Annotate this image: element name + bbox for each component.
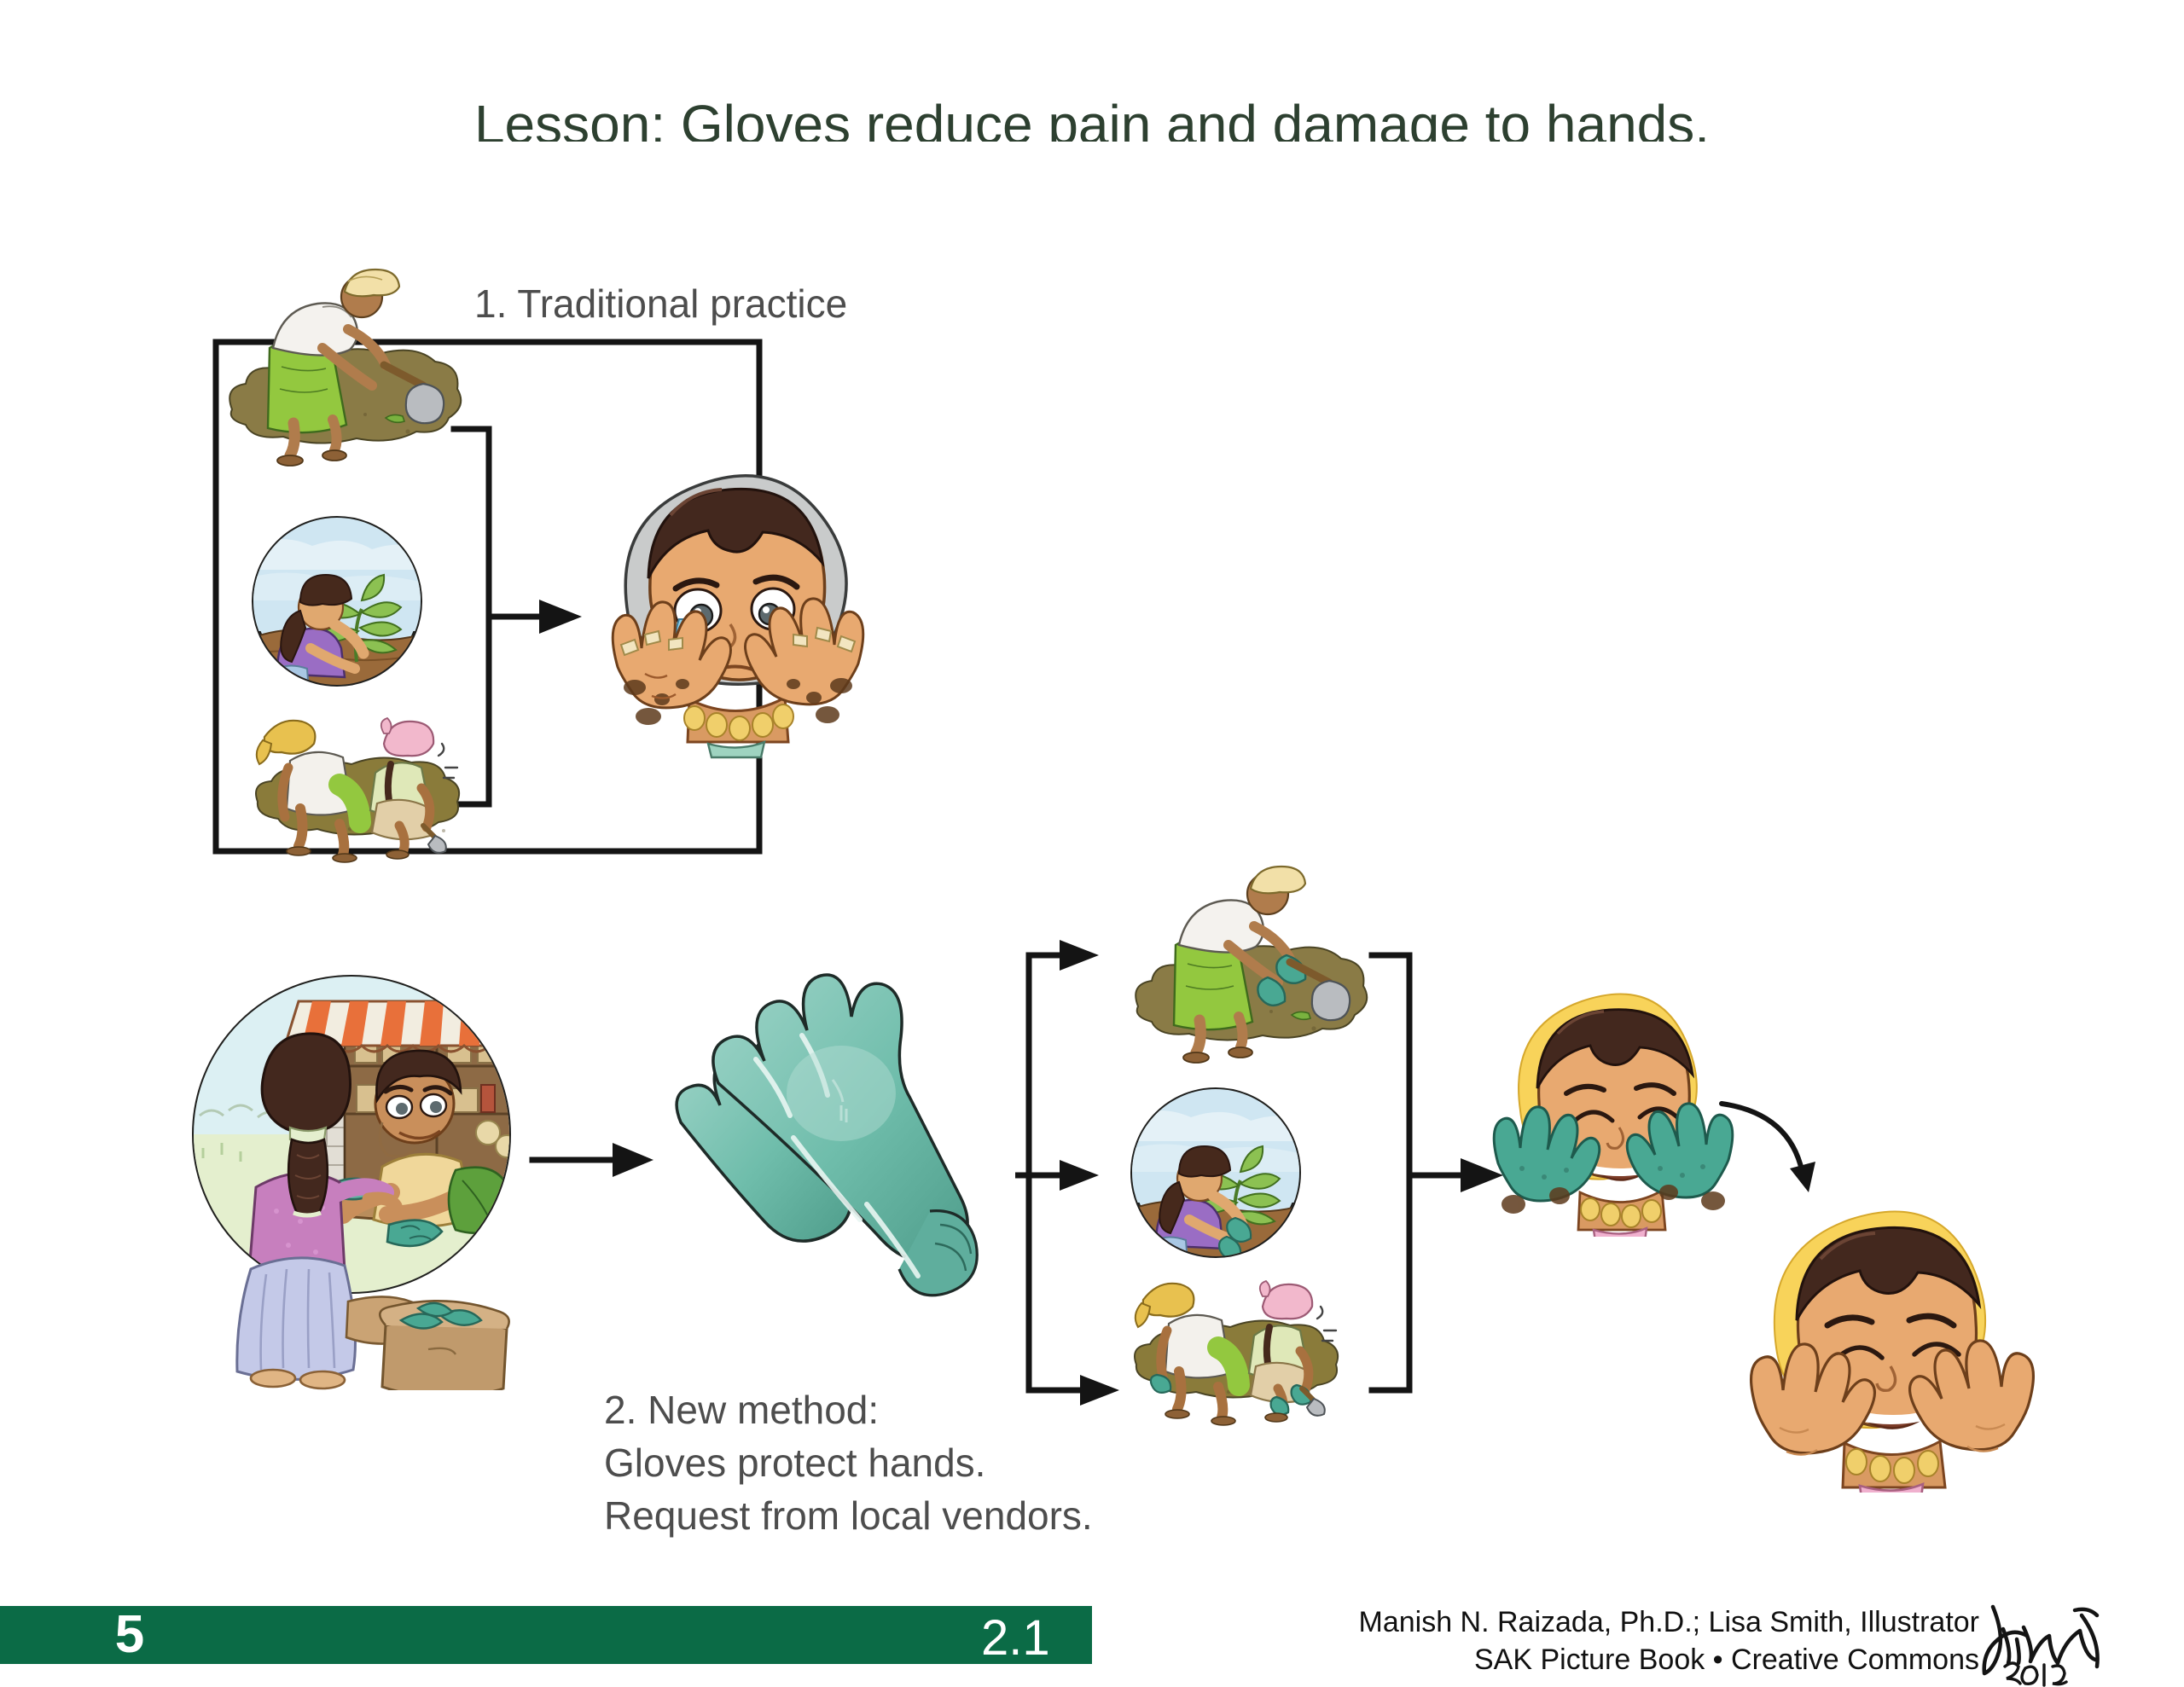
illustrator-signature: 2015	[1979, 1593, 2150, 1687]
outcome-happy-girl-clean-hands	[1732, 1194, 2056, 1493]
scene-pair-of-gloves	[674, 947, 1032, 1330]
scene-vendor-shop	[181, 964, 548, 1390]
label-traditional-practice: 1. Traditional practice	[474, 277, 847, 330]
page-number: 5	[96, 1607, 164, 1663]
label-new-method-line-2: Gloves protect hands.	[604, 1436, 1093, 1489]
section-number: 2.1	[981, 1610, 1083, 1667]
scene-girl-planting-with-gloves	[1126, 1083, 1305, 1262]
credits: Manish N. Raizada, Ph.D.; Lisa Smith, Il…	[1331, 1603, 1979, 1678]
scene-woman-digging-with-gloves	[1126, 853, 1374, 1075]
credit-line-2: SAK Picture Book • Creative Commons	[1331, 1641, 1979, 1678]
label-new-method-line-3: Request from local vendors.	[604, 1489, 1093, 1542]
outcome-sad-girl-dirty-hands	[589, 443, 887, 759]
scene-two-women-weeding-with-gloves	[1126, 1262, 1356, 1433]
footer-bar	[0, 1606, 1092, 1664]
arrow-vendor-to-gloves	[527, 1134, 664, 1186]
scene-two-women-weeding	[247, 699, 478, 870]
scene-girl-planting-seedling	[247, 512, 427, 691]
scene-woman-digging-bare-hands	[220, 256, 468, 478]
page-title: Lesson: Gloves reduce pain and damage to…	[0, 94, 2184, 142]
outcome-happy-girl-gloved-hands	[1484, 981, 1749, 1237]
credit-line-1: Manish N. Raizada, Ph.D.; Lisa Smith, Il…	[1331, 1603, 1979, 1641]
